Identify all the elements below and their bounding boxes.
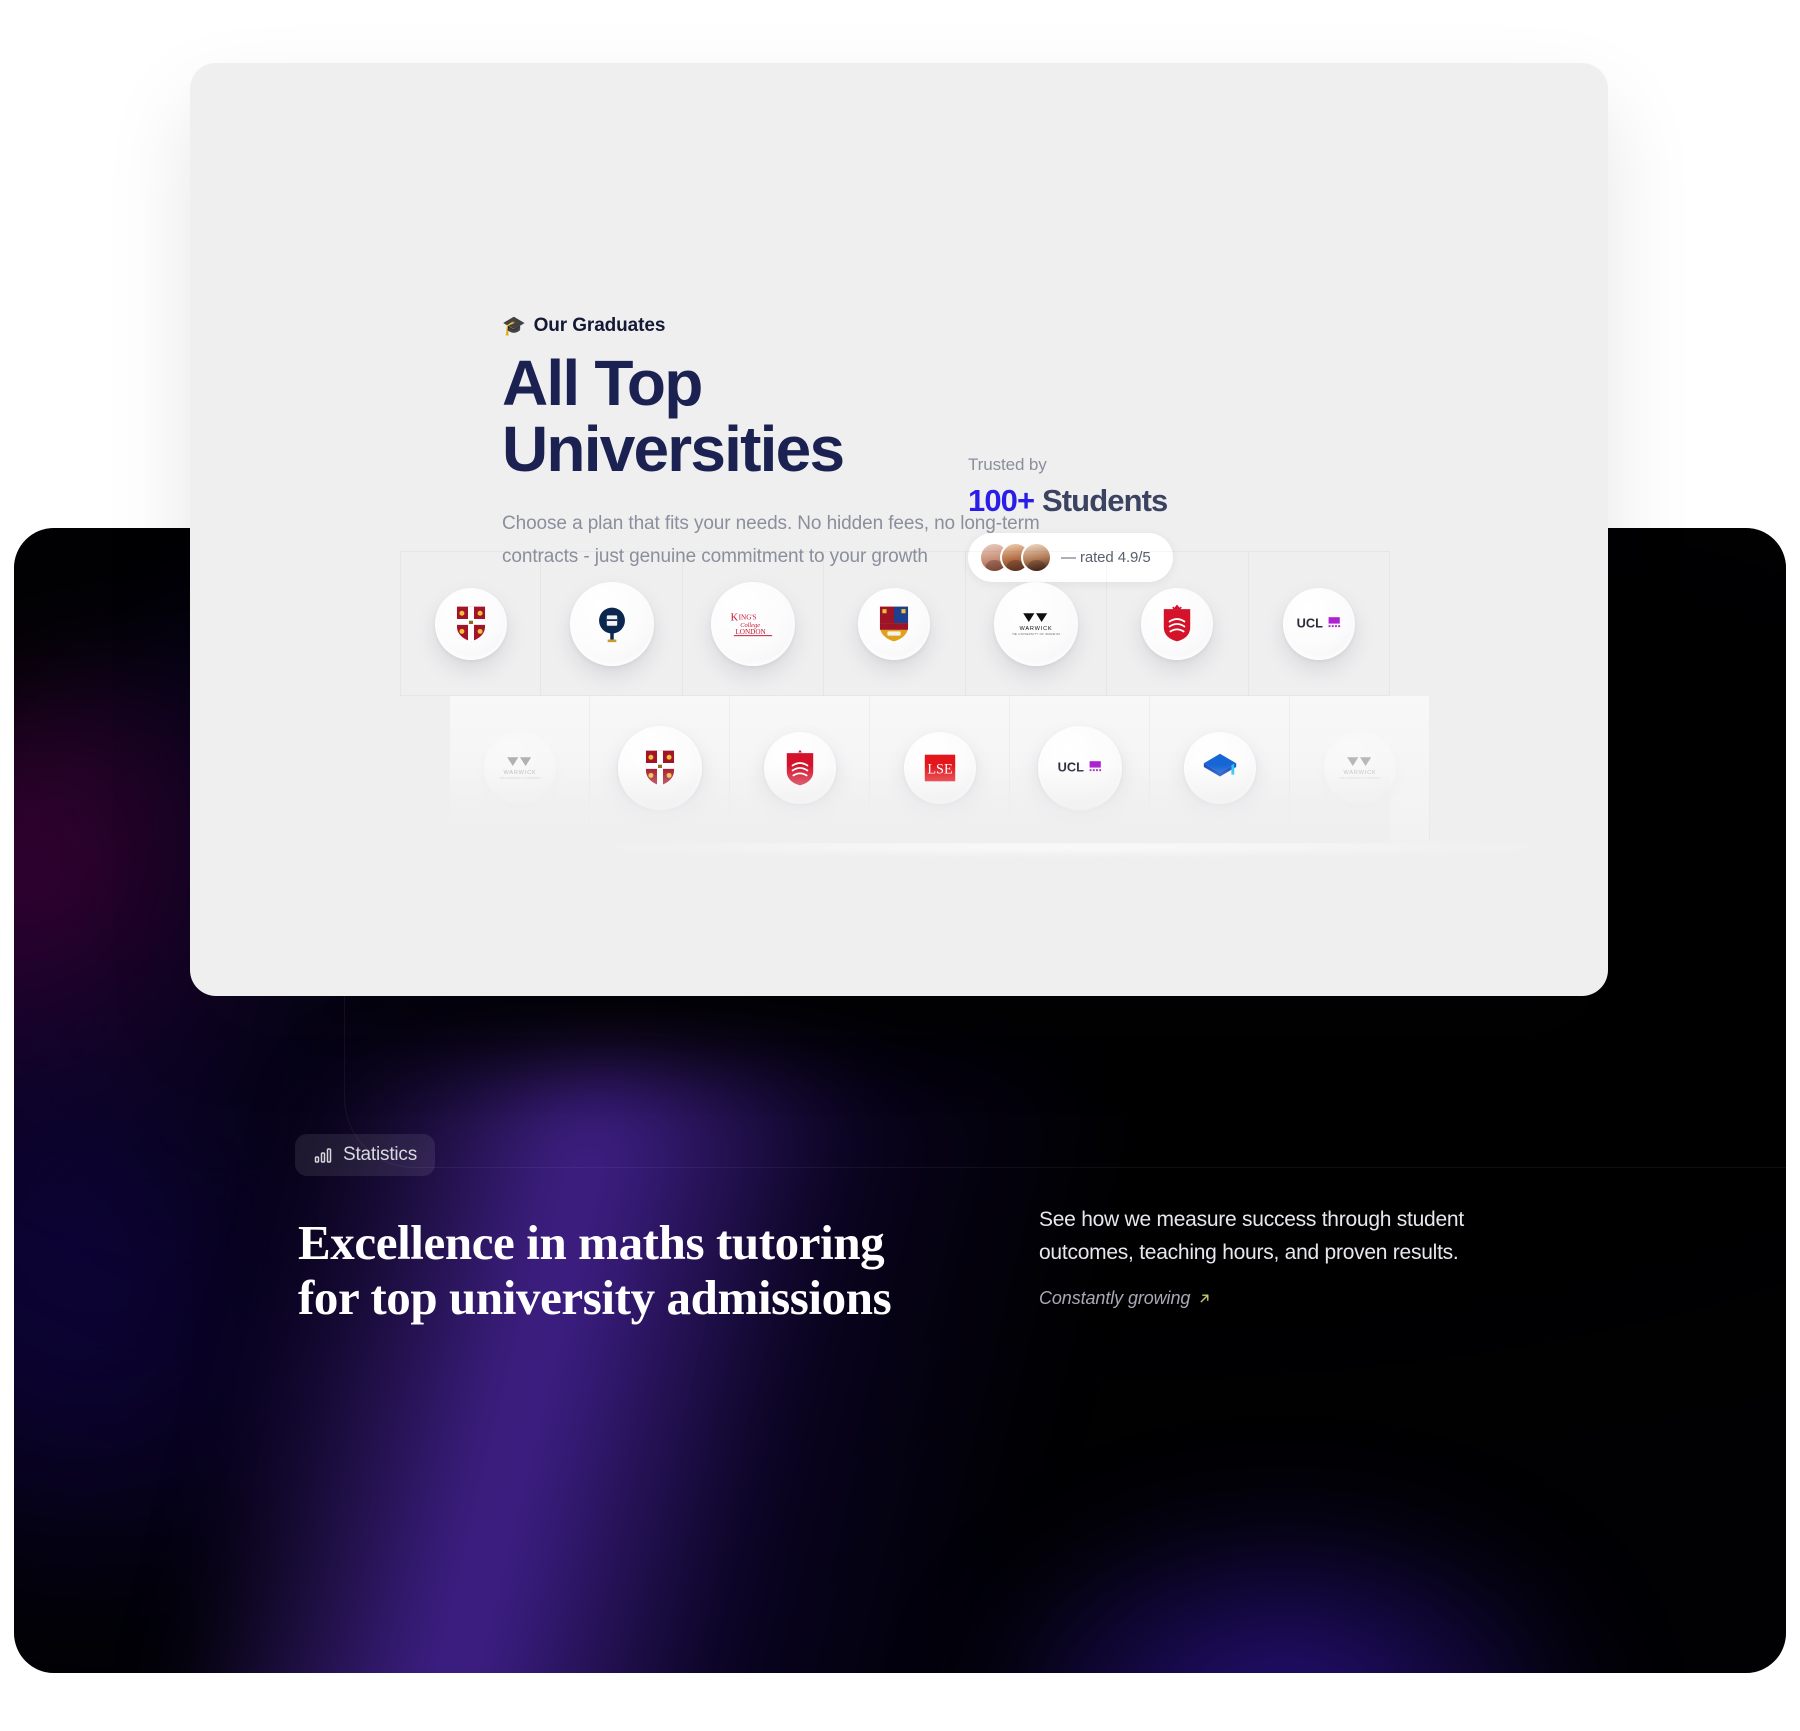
arrow-up-right-icon	[1197, 1291, 1212, 1306]
bar-chart-icon	[313, 1145, 333, 1165]
eyebrow-label: Our Graduates	[534, 315, 666, 337]
cambridge-logo-icon	[452, 605, 490, 643]
warwick-logo-icon: WARWICK THE UNIVERSITY OF WARWICK	[496, 754, 544, 781]
svg-text:WARWICK: WARWICK	[1019, 626, 1052, 632]
statistics-description: See how we measure success through stude…	[1039, 1204, 1499, 1269]
trusted-by-count: 100+ Students	[968, 483, 1298, 519]
trusted-by-suffix: Students	[1042, 483, 1167, 518]
logo-cell-warwick[interactable]: WARWICK THE UNIVERSITY OF WARWICK	[1290, 696, 1430, 841]
logo-cell-cambridge[interactable]	[590, 696, 730, 841]
ucl-logo-icon: UCL	[1056, 758, 1104, 777]
bristol-logo-icon	[1158, 605, 1196, 643]
statistics-note: Constantly growing	[1039, 1288, 1212, 1309]
logo-cell-durham[interactable]	[824, 551, 965, 696]
statistics-badge[interactable]: Statistics	[295, 1134, 435, 1176]
svg-text:LSE: LSE	[927, 762, 952, 778]
logo-cell-lse[interactable]: LSE	[870, 696, 1010, 841]
statistics-heading-line1: Excellence in maths tutoring	[298, 1215, 884, 1270]
lse-logo-icon: LSE	[921, 749, 959, 787]
trusted-by-number: 100+	[968, 483, 1034, 518]
oxford-logo-icon	[593, 605, 631, 643]
screenshot-stage: Statistics Excellence in maths tutoring …	[0, 0, 1800, 1731]
durham-logo-icon	[875, 605, 913, 643]
bristol-logo-icon	[781, 749, 819, 787]
logo-grid-shelf	[550, 839, 1590, 855]
logo-cell-warwick[interactable]: WARWICK THE UNIVERSITY OF WARWICK	[450, 696, 590, 841]
svg-text:THE UNIVERSITY OF WARWICK: THE UNIVERSITY OF WARWICK	[1339, 776, 1380, 780]
logo-cell-kings-college-london[interactable]: K ING'S College LONDON	[683, 551, 824, 696]
svg-text:ING'S: ING'S	[739, 614, 757, 622]
logo-cell-oxford[interactable]	[541, 551, 682, 696]
logo-row-2: WARWICK THE UNIVERSITY OF WARWICK	[450, 696, 1430, 841]
svg-text:LONDON: LONDON	[735, 628, 766, 636]
logo-cell-bristol[interactable]	[730, 696, 870, 841]
graduation-cap-icon: 🎓	[502, 317, 526, 336]
statistics-heading: Excellence in maths tutoring for top uni…	[298, 1216, 1018, 1326]
ucl-logo-icon: UCL	[1295, 614, 1343, 633]
statistics-badge-label: Statistics	[343, 1144, 417, 1166]
logo-cell-ucl[interactable]: UCL	[1249, 551, 1390, 696]
warwick-logo-icon: WARWICK THE UNIVERSITY OF WARWICK	[1012, 610, 1060, 637]
svg-text:WARWICK: WARWICK	[1343, 770, 1376, 776]
trusted-by-label: Trusted by	[968, 455, 1298, 475]
svg-text:UCL: UCL	[1296, 615, 1322, 630]
logo-row-1: K ING'S College LONDON	[400, 551, 1390, 696]
universities-card: 🎓 Our Graduates All Top Universities Cho…	[190, 63, 1608, 996]
logo-cell-warwick[interactable]: WARWICK THE UNIVERSITY OF WARWICK	[966, 551, 1107, 696]
svg-text:K: K	[731, 612, 739, 623]
cambridge-logo-icon	[641, 749, 679, 787]
logo-cell-bristol[interactable]	[1107, 551, 1248, 696]
svg-text:THE UNIVERSITY OF WARWICK: THE UNIVERSITY OF WARWICK	[1012, 632, 1060, 636]
logo-cell-imperial[interactable]	[1150, 696, 1290, 841]
statistics-heading-line2: for top university admissions	[298, 1270, 891, 1325]
logo-cell-ucl[interactable]: UCL	[1010, 696, 1150, 841]
svg-text:UCL: UCL	[1057, 760, 1083, 775]
our-graduates-eyebrow: 🎓 Our Graduates	[502, 315, 665, 337]
kings-college-london-logo-icon: K ING'S College LONDON	[729, 610, 777, 637]
svg-text:WARWICK: WARWICK	[503, 770, 536, 776]
imperial-logo-icon	[1201, 749, 1239, 787]
headline-line1: All Top	[502, 347, 702, 419]
headline-line2: Universities	[502, 413, 843, 485]
logo-cell-cambridge[interactable]	[400, 551, 541, 696]
svg-text:THE UNIVERSITY OF WARWICK: THE UNIVERSITY OF WARWICK	[499, 776, 540, 780]
statistics-note-label: Constantly growing	[1039, 1288, 1190, 1309]
warwick-logo-icon: WARWICK THE UNIVERSITY OF WARWICK	[1336, 754, 1384, 781]
university-logo-grid: K ING'S College LONDON	[400, 551, 1390, 841]
